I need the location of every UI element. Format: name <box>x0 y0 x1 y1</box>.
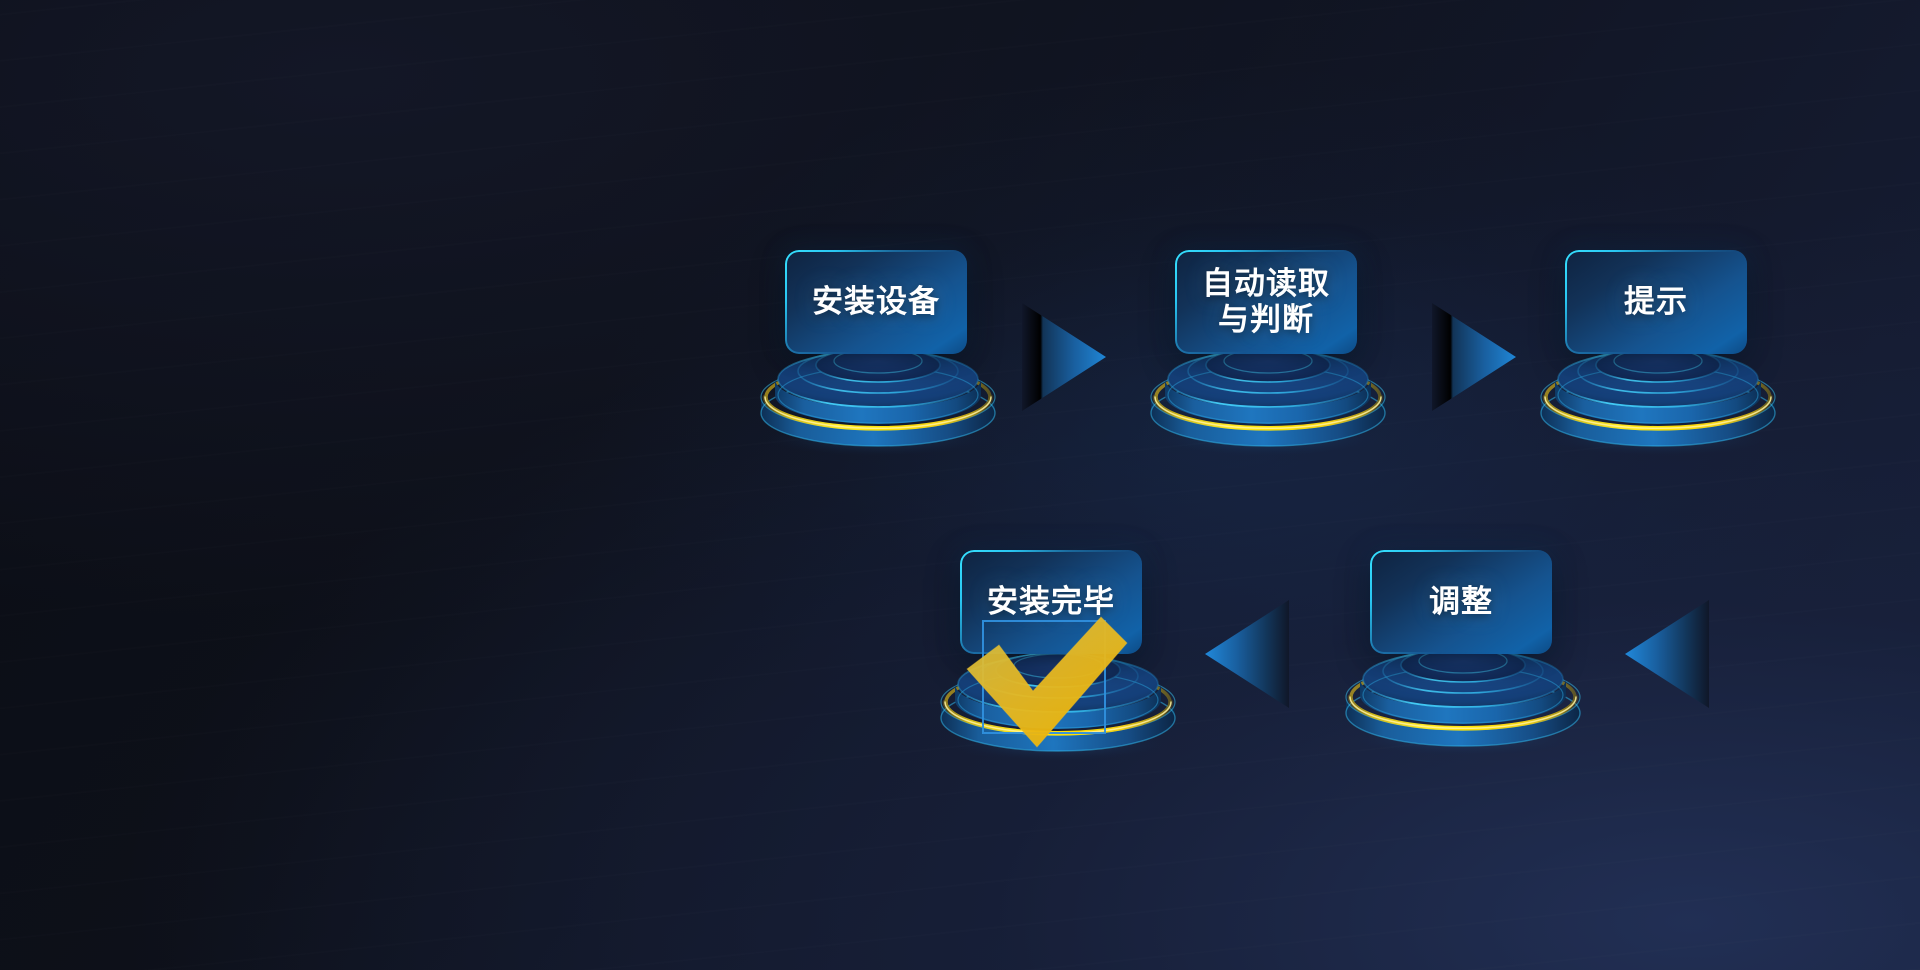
background-glow <box>0 0 1920 970</box>
step-card-label: 提示 <box>1624 284 1688 320</box>
flow-arrow-4 <box>1205 600 1289 708</box>
step-card-auto-read-and-judge[interactable]: 自动读取 与判断 <box>1175 250 1357 354</box>
step-card-adjust[interactable]: 调整 <box>1370 550 1552 654</box>
step-card-installation-complete[interactable]: 安装完毕 <box>960 550 1142 654</box>
podium-graphic <box>933 640 1183 760</box>
arrow-left-icon <box>1205 600 1289 708</box>
arrow-right-icon <box>1432 303 1516 411</box>
step-card-label: 调整 <box>1429 584 1493 620</box>
background-streak-texture <box>0 0 1920 970</box>
step-card-install-device[interactable]: 安装设备 <box>785 250 967 354</box>
step-card-label: 安装完毕 <box>987 584 1115 620</box>
flow-diagram-canvas: 安装设备 自动读取 与判断 <box>0 0 1920 970</box>
step-card-prompt[interactable]: 提示 <box>1565 250 1747 354</box>
step-card-label: 安装设备 <box>812 284 940 320</box>
step-card-label: 自动读取 与判断 <box>1202 266 1330 338</box>
flow-arrow-2 <box>1432 303 1516 411</box>
flow-arrow-1 <box>1022 303 1106 411</box>
arrow-left-icon <box>1625 600 1709 708</box>
flow-arrow-3 <box>1625 600 1709 708</box>
podium-installation-complete <box>933 640 1183 760</box>
arrow-right-icon <box>1022 303 1106 411</box>
